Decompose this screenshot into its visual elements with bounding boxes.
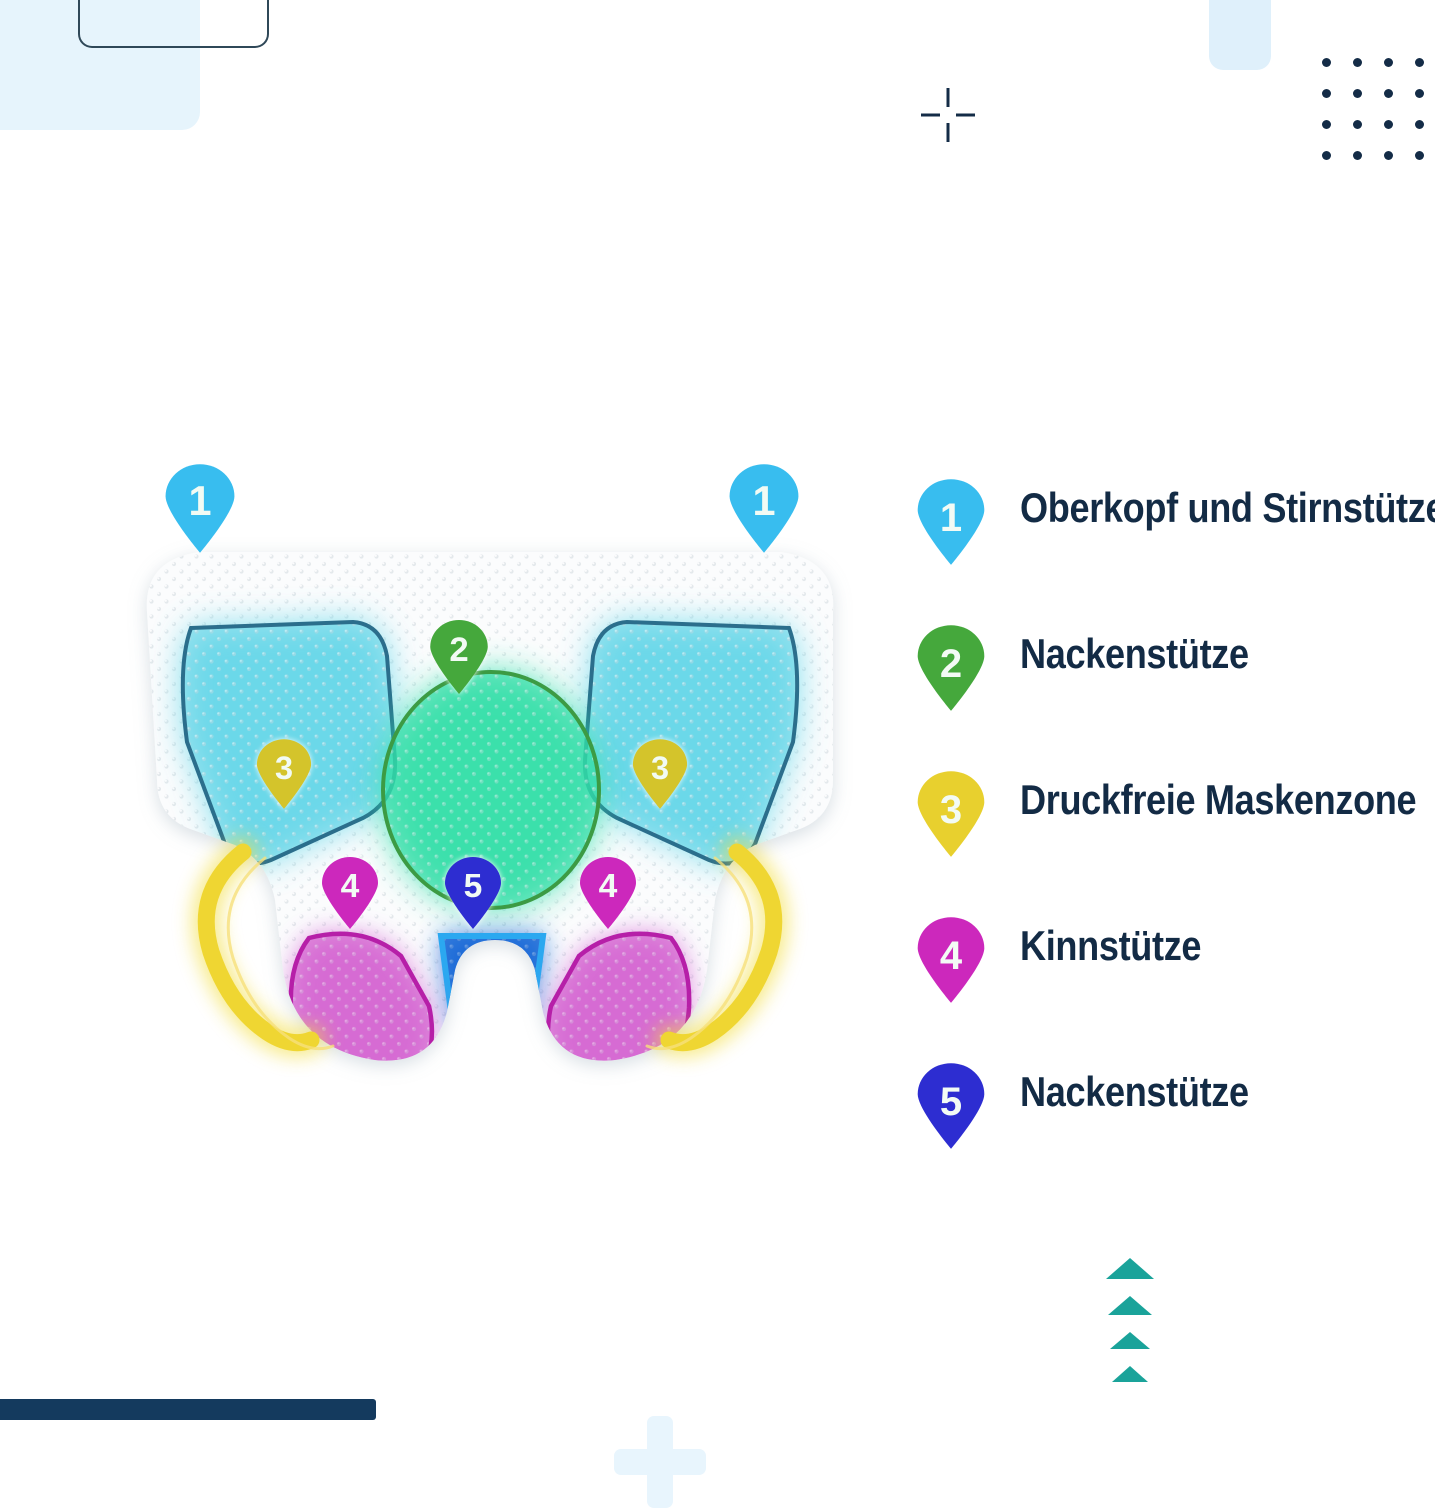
legend-pin-number: 2 [915,644,987,684]
legend-item-4: 4Kinnstütze [915,916,1435,1062]
decor-rounded-rect-top-right [1209,0,1271,70]
grid-dot [1415,120,1424,129]
legend-item-3: 3Druckfreie Maskenzone [915,770,1435,916]
legend-pin-5-icon: 5 [915,1062,987,1150]
grid-dot [1353,151,1362,160]
triangle-4-icon [1112,1366,1148,1382]
grid-dot [1353,58,1362,67]
crosshair-icon [921,88,975,142]
legend-label-4: Kinnstütze [1020,924,1201,968]
legend-pin-number: 1 [915,498,987,538]
product-pin-4-5: 4 [320,856,380,930]
decor-rounded-rect-outline [78,0,269,48]
grid-dot [1415,89,1424,98]
legend-pin-1-icon: 1 [915,478,987,566]
triangle-1-icon [1106,1258,1154,1279]
dot-grid-icon [1322,58,1430,170]
legend-label-3: Druckfreie Maskenzone [1020,778,1416,822]
legend-pin-number: 3 [915,790,987,830]
legend-item-2: 2Nackenstütze [915,624,1435,770]
product-pin-4-6: 4 [578,856,638,930]
legend-pin-2-icon: 2 [915,624,987,712]
product-pin-5-7: 5 [443,856,503,930]
legend-label-5: Nackenstütze [1020,1070,1249,1114]
product-pin-3-3: 3 [255,738,313,810]
grid-dot [1384,120,1393,129]
product-pin-3-4: 3 [631,738,689,810]
product-pin-1-0: 1 [163,463,237,554]
legend-label-2: Nackenstütze [1020,632,1249,676]
triangle-3-icon [1110,1332,1150,1349]
grid-dot [1353,89,1362,98]
accent-bar [0,1399,376,1420]
product-pin-2-2: 2 [428,619,490,695]
grid-dot [1322,151,1331,160]
legend-item-1: 1Oberkopf und Stirnstütze [915,478,1435,624]
grid-dot [1384,89,1393,98]
grid-dot [1353,120,1362,129]
grid-dot [1322,58,1331,67]
legend-pin-3-icon: 3 [915,770,987,858]
legend-pin-4-icon: 4 [915,916,987,1004]
grid-dot [1415,151,1424,160]
legend-item-5: 5Nackenstütze [915,1062,1435,1208]
triangle-stack-icon [1104,1258,1184,1398]
plus-icon [614,1416,706,1508]
grid-dot [1384,58,1393,67]
grid-dot [1322,89,1331,98]
grid-dot [1415,58,1424,67]
product-image-cpap-pillow [95,500,885,1120]
zone-5-lower-center [441,936,543,1042]
grid-dot [1384,151,1393,160]
grid-dot [1322,120,1331,129]
legend-pin-number: 4 [915,936,987,976]
legend-pin-number: 5 [915,1082,987,1122]
triangle-2-icon [1108,1296,1152,1315]
product-pin-1-1: 1 [727,463,801,554]
legend-list: 1Oberkopf und Stirnstütze2Nackenstütze3D… [915,478,1435,1208]
legend-label-1: Oberkopf und Stirnstütze [1020,486,1435,530]
